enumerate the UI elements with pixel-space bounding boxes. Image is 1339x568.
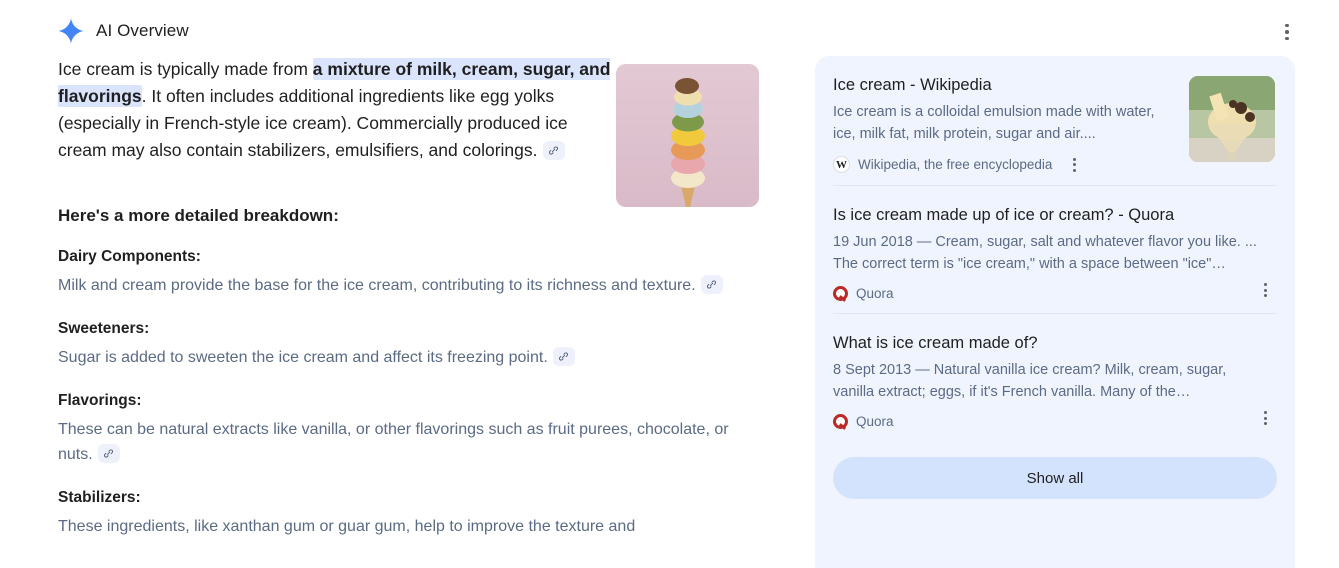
sources-panel: Ice cream - Wikipedia Ice cream is a col… xyxy=(815,56,1295,568)
source-footer: Quora xyxy=(833,414,1277,429)
source-title[interactable]: Is ice cream made up of ice or cream? - … xyxy=(833,204,1277,226)
source-thumbnail xyxy=(1189,76,1275,162)
citation-link-icon[interactable] xyxy=(553,347,575,366)
source-snippet: 19 Jun 2018 — Cream, sugar, salt and wha… xyxy=(833,231,1277,275)
more-options-icon[interactable] xyxy=(1277,22,1297,42)
section-body-text: Sugar is added to sweeten the ice cream … xyxy=(58,349,548,366)
more-options-icon[interactable] xyxy=(1066,157,1082,173)
section-heading: Sweeteners: xyxy=(58,320,770,338)
intro-text-before: Ice cream is typically made from xyxy=(58,59,313,79)
more-options-icon[interactable] xyxy=(1257,282,1273,298)
source-name: Quora xyxy=(856,286,894,301)
quora-favicon xyxy=(833,414,848,429)
citation-link-icon[interactable] xyxy=(701,275,723,294)
more-options-icon[interactable] xyxy=(1257,410,1273,426)
citation-link-icon[interactable] xyxy=(98,444,120,463)
quora-favicon xyxy=(833,286,848,301)
source-snippet: 8 Sept 2013 — Natural vanilla ice cream?… xyxy=(833,359,1277,403)
section-body-text: Milk and cream provide the base for the … xyxy=(58,277,696,294)
section-heading: Dairy Components: xyxy=(58,248,770,266)
section-body-text: These can be natural extracts like vanil… xyxy=(58,421,729,463)
section-sweeteners: Sweeteners: Sugar is added to sweeten th… xyxy=(58,320,770,370)
intro-paragraph: Ice cream is typically made from a mixtu… xyxy=(58,56,620,164)
section-heading: Flavorings: xyxy=(58,392,770,410)
sparkle-icon xyxy=(58,18,84,44)
section-body: These ingredients, like xanthan gum or g… xyxy=(58,514,758,539)
wikipedia-favicon: W xyxy=(833,156,850,173)
section-heading: Stabilizers: xyxy=(58,489,770,507)
section-body: Milk and cream provide the base for the … xyxy=(58,273,758,298)
ai-overview-page: AI Overview Ice cream is typically made … xyxy=(0,0,1339,568)
show-all-button[interactable]: Show all xyxy=(833,457,1277,499)
section-body: Sugar is added to sweeten the ice cream … xyxy=(58,345,758,370)
section-body-text: These ingredients, like xanthan gum or g… xyxy=(58,518,635,535)
section-flavorings: Flavorings: These can be natural extract… xyxy=(58,392,770,467)
section-dairy-components: Dairy Components: Milk and cream provide… xyxy=(58,248,770,298)
overview-header: AI Overview xyxy=(0,0,1339,56)
source-name: Quora xyxy=(856,414,894,429)
overview-body: Ice cream is typically made from a mixtu… xyxy=(0,56,800,568)
source-name: Wikipedia, the free encyclopedia xyxy=(858,157,1052,172)
source-card-wikipedia[interactable]: Ice cream - Wikipedia Ice cream is a col… xyxy=(833,56,1277,185)
hero-ice-cream-image xyxy=(616,64,759,207)
source-card-quora-2[interactable]: What is ice cream made of? 8 Sept 2013 —… xyxy=(833,313,1277,441)
section-stabilizers: Stabilizers: These ingredients, like xan… xyxy=(58,489,770,539)
source-title[interactable]: What is ice cream made of? xyxy=(833,332,1277,354)
ai-overview-heading: AI Overview xyxy=(58,18,189,44)
ai-overview-title: AI Overview xyxy=(96,21,189,41)
section-body: These can be natural extracts like vanil… xyxy=(58,417,758,467)
source-card-quora-1[interactable]: Is ice cream made up of ice or cream? - … xyxy=(833,185,1277,313)
intro-block: Ice cream is typically made from a mixtu… xyxy=(58,56,770,164)
breakdown-title: Here's a more detailed breakdown: xyxy=(58,206,770,226)
source-footer: Quora xyxy=(833,286,1277,301)
citation-link-icon[interactable] xyxy=(543,141,565,160)
